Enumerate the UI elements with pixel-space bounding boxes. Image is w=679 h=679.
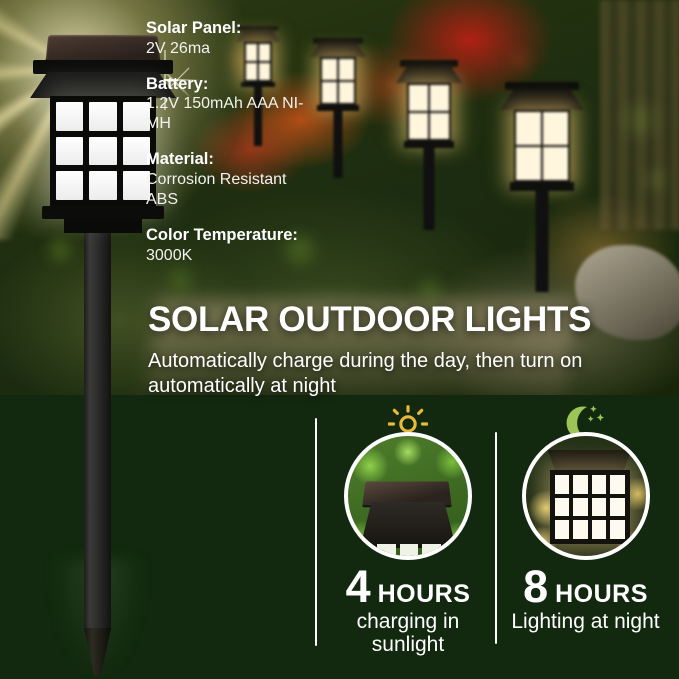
- hours-number: 8: [523, 566, 548, 609]
- spec-value: Corrosion Resistant ABS: [146, 170, 321, 210]
- spec-value: 1.2V 150mAh AAA NI-MH: [146, 94, 321, 134]
- wooden-fence: [600, 0, 679, 230]
- headline-block: SOLAR OUTDOOR LIGHTS Automatically charg…: [148, 302, 628, 399]
- product-marketing-image: SOLAR OUTDOOR LIGHTS Automatically charg…: [0, 0, 679, 679]
- background-lantern: [500, 82, 584, 292]
- lantern-glass-body: [50, 96, 156, 206]
- spec-list: Solar Panel: 2V 26ma Battery: 1.2V 150mA…: [146, 18, 321, 281]
- hours-unit: HOURS: [555, 580, 648, 609]
- page-title: SOLAR OUTDOOR LIGHTS: [148, 302, 628, 339]
- spec-label: Solar Panel:: [146, 18, 321, 39]
- lantern-neck: [64, 219, 142, 233]
- spec-value: 2V 26ma: [146, 39, 321, 59]
- solar-panel-photo: [344, 432, 472, 560]
- spec-item: Solar Panel: 2V 26ma: [146, 18, 321, 59]
- feature-description: charging in sunlight: [333, 610, 483, 656]
- background-lantern: [396, 60, 462, 230]
- lit-lantern-photo: [522, 432, 650, 560]
- solar-panel-top: [46, 35, 161, 60]
- spec-label: Battery:: [146, 74, 321, 95]
- spec-item: Battery: 1.2V 150mAh AAA NI-MH: [146, 74, 321, 135]
- feature-lighting: 8 HOURS Lighting at night: [508, 400, 663, 633]
- spec-item: Color Temperature: 3000K: [146, 225, 321, 266]
- vertical-divider: [315, 418, 317, 646]
- spec-value: 3000K: [146, 246, 321, 266]
- spec-label: Color Temperature:: [146, 225, 321, 246]
- feature-charging: 4 HOURS charging in sunlight: [333, 400, 483, 656]
- feature-hours: 8 HOURS: [508, 566, 663, 609]
- feature-hours: 4 HOURS: [333, 566, 483, 609]
- vertical-divider: [495, 432, 497, 644]
- hours-number: 4: [346, 566, 371, 609]
- page-subtitle: Automatically charge during the day, the…: [148, 349, 628, 399]
- feature-description: Lighting at night: [508, 610, 663, 633]
- spec-label: Material:: [146, 149, 321, 170]
- lantern-pole: [84, 230, 111, 630]
- hours-unit: HOURS: [378, 580, 471, 609]
- spec-item: Material: Corrosion Resistant ABS: [146, 149, 321, 210]
